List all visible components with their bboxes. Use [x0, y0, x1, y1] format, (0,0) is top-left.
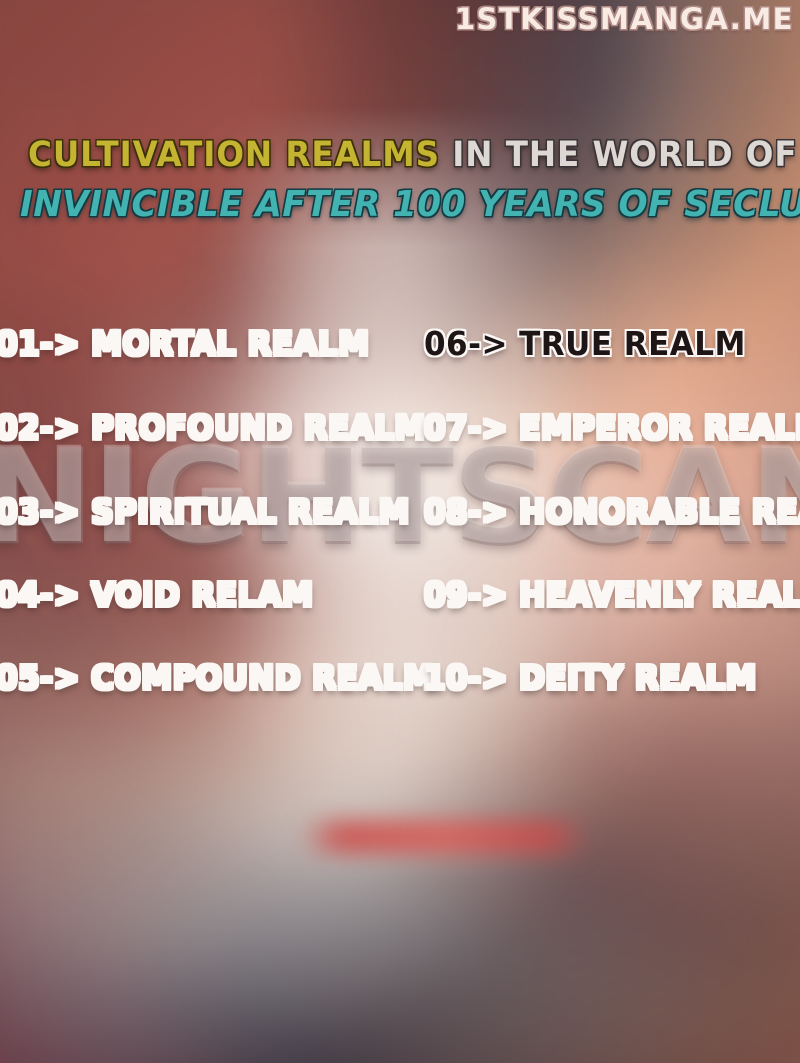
realm-item: 07-> EMPEROR REALM: [424, 402, 800, 454]
headline-line-1: CULTIVATION REALMS IN THE WORLD OF: [28, 134, 772, 176]
manga-panel: NIGHTSCANS.ORG 1STKISSMANGA.ME CULTIVATI…: [0, 0, 800, 1063]
realm-item: 04-> VOID RELAM: [0, 569, 314, 621]
realm-item: 09-> HEAVENLY REALM: [424, 569, 800, 621]
headline-line-2: INVINCIBLE AFTER 100 YEARS OF SECLUSION: [20, 184, 780, 226]
realm-item: 06-> TRUE REALM: [424, 318, 746, 370]
realm-item: 10-> DEITY REALM: [424, 652, 757, 704]
site-watermark: 1STKISSMANGA.ME: [455, 2, 794, 36]
headline-rest: IN THE WORLD OF: [440, 135, 798, 175]
realm-item: 01-> MORTAL REALM: [0, 318, 370, 370]
realm-item: 03-> SPIRITUAL REALM: [0, 486, 410, 538]
realm-item: 02-> PROFOUND REALM: [0, 402, 426, 454]
realm-list: 01-> MORTAL REALM 02-> PROFOUND REALM 03…: [0, 300, 800, 720]
headline-highlight: CULTIVATION REALMS: [28, 135, 440, 175]
headline-block: CULTIVATION REALMS IN THE WORLD OF INVIN…: [0, 134, 800, 226]
realm-item: 05-> COMPOUND REALM: [0, 652, 434, 704]
realm-item: 08-> HONORABLE REALM: [424, 486, 800, 538]
